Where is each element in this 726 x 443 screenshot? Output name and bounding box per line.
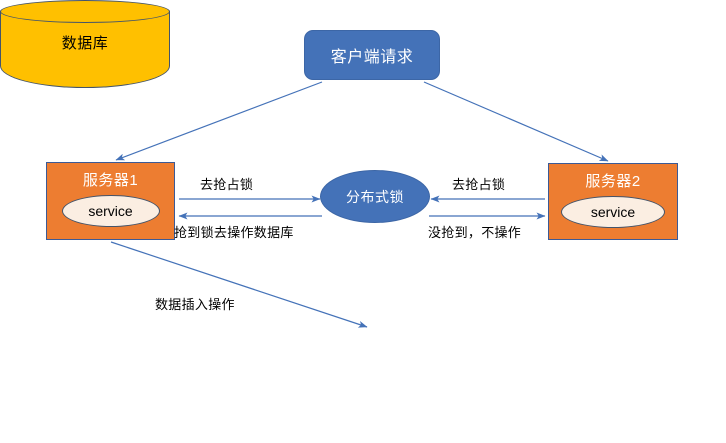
node-server-2[interactable]: 服务器2 service xyxy=(548,163,678,240)
distributed-lock-label: 分布式锁 xyxy=(346,187,404,207)
edge-client-to-server2 xyxy=(424,82,608,161)
edge-server1-to-database xyxy=(111,242,367,327)
edge-label-server1-to-database: 数据插入操作 xyxy=(155,294,235,313)
edge-label-lock-to-server2: 没抢到，不操作 xyxy=(428,222,521,241)
edge-label-server1-to-lock: 去抢占锁 xyxy=(200,174,253,193)
server-2-label: 服务器2 xyxy=(585,172,640,192)
node-distributed-lock[interactable]: 分布式锁 xyxy=(320,170,430,223)
node-server-1[interactable]: 服务器1 service xyxy=(46,162,175,240)
client-request-label: 客户端请求 xyxy=(331,43,414,67)
server-1-service-ellipse: service xyxy=(62,195,160,227)
edge-label-lock-to-server1: 抢到锁去操作数据库 xyxy=(174,222,294,241)
diagram-canvas: 客户端请求 服务器1 service 服务器2 service 分布式锁 数据库… xyxy=(0,0,726,443)
database-label: 数据库 xyxy=(0,32,170,53)
database-cylinder-top xyxy=(0,0,170,23)
edge-label-server2-to-lock: 去抢占锁 xyxy=(452,174,505,193)
edge-client-to-server1 xyxy=(116,82,322,160)
server-1-label: 服务器1 xyxy=(83,171,138,191)
server-2-service-ellipse: service xyxy=(561,196,665,228)
node-database[interactable]: 数据库 xyxy=(0,0,170,88)
node-client-request[interactable]: 客户端请求 xyxy=(304,30,440,80)
